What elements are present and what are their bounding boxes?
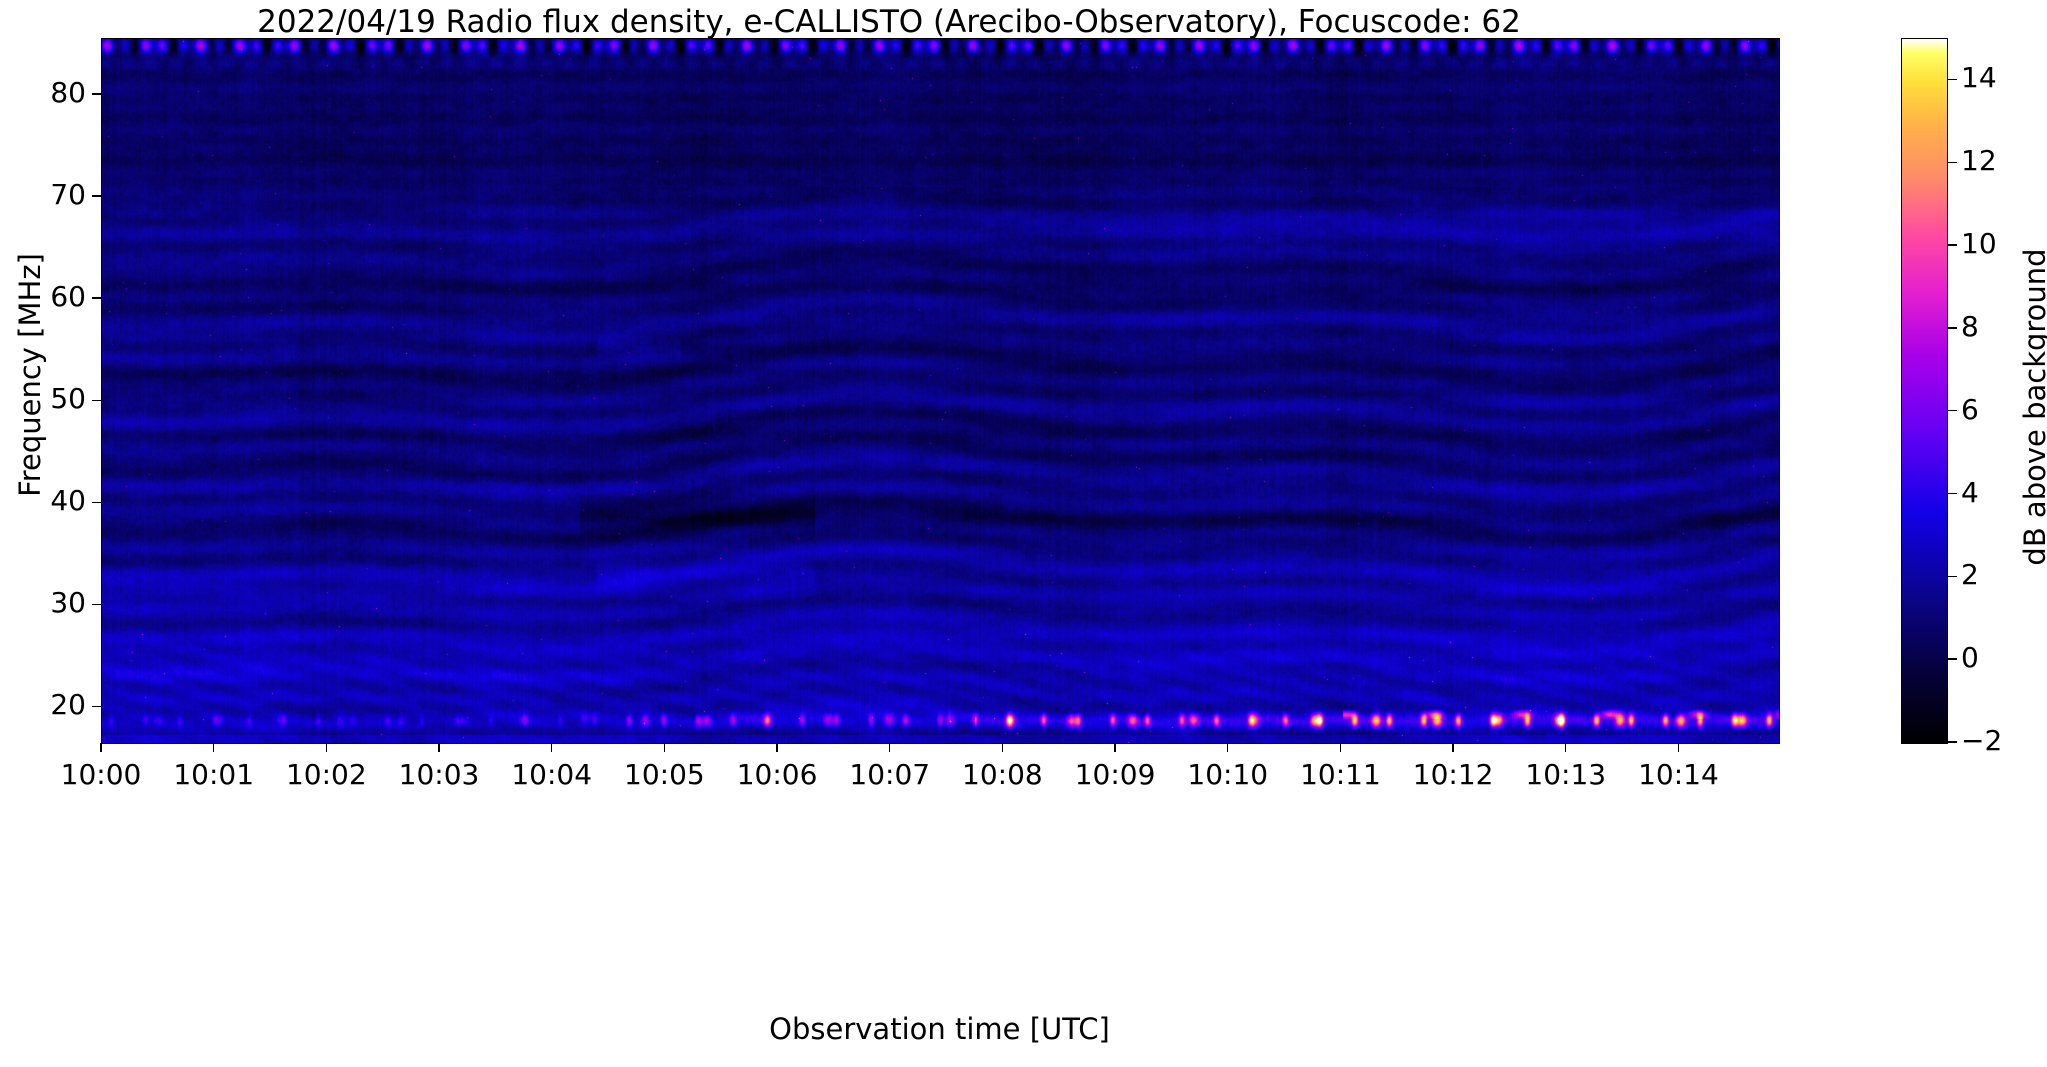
x-axis-label: Observation time [UTC]: [101, 1012, 1778, 1046]
y-tick-mark: [92, 195, 101, 196]
x-tick-mark: [889, 743, 890, 752]
y-tick-mark: [92, 297, 101, 298]
y-tick-mark: [92, 502, 101, 503]
colorbar-gradient: [1902, 39, 1947, 743]
colorbar-tick-mark: [1948, 576, 1957, 577]
colorbar-tick-mark: [1948, 162, 1957, 163]
page-title: 2022/04/19 Radio flux density, e-CALLIST…: [0, 4, 1778, 40]
y-tick-label: 80: [0, 76, 86, 109]
colorbar-tick-mark: [1948, 410, 1957, 411]
spectrogram-image: [102, 39, 1779, 743]
colorbar-tick-label: −2: [1961, 724, 2002, 757]
x-tick-mark: [1114, 743, 1115, 752]
x-tick-mark: [1565, 743, 1566, 752]
y-tick-label: 20: [0, 688, 86, 721]
colorbar-tick-label: 10: [1961, 227, 1997, 260]
x-tick-mark: [213, 743, 214, 752]
colorbar-tick-mark: [1948, 741, 1957, 742]
y-tick-mark: [92, 604, 101, 605]
spectrogram-figure: 2022/04/19 Radio flux density, e-CALLIST…: [0, 0, 2047, 1067]
x-tick-mark: [100, 743, 101, 752]
x-tick-mark: [1678, 743, 1679, 752]
y-tick-label: 70: [0, 178, 86, 211]
colorbar-tick-label: 8: [1961, 310, 1979, 343]
colorbar-tick-mark: [1948, 327, 1957, 328]
colorbar-tick-label: 4: [1961, 476, 1979, 509]
y-tick-mark: [92, 706, 101, 707]
y-tick-label: 30: [0, 586, 86, 619]
colorbar-tick-mark: [1948, 493, 1957, 494]
colorbar-tick-label: 0: [1961, 641, 1979, 674]
colorbar-tick-mark: [1948, 658, 1957, 659]
colorbar-label: dB above background: [2018, 87, 2047, 727]
x-tick-mark: [551, 743, 552, 752]
y-tick-mark: [92, 400, 101, 401]
y-tick-label: 50: [0, 382, 86, 415]
x-tick-mark: [1452, 743, 1453, 752]
x-tick-mark: [438, 743, 439, 752]
colorbar[interactable]: [1901, 38, 1948, 744]
spectrogram-plot-area[interactable]: [101, 38, 1780, 744]
colorbar-tick-label: 2: [1961, 558, 1979, 591]
colorbar-tick-label: 6: [1961, 393, 1979, 426]
x-tick-mark: [1340, 743, 1341, 752]
y-tick-label: 60: [0, 280, 86, 313]
x-tick-mark: [1002, 743, 1003, 752]
colorbar-tick-label: 14: [1961, 61, 1997, 94]
y-tick-label: 40: [0, 484, 86, 517]
colorbar-tick-mark: [1948, 79, 1957, 80]
x-tick-mark: [664, 743, 665, 752]
x-tick-label: 10:14: [1598, 758, 1758, 791]
x-tick-mark: [1227, 743, 1228, 752]
colorbar-tick-mark: [1948, 244, 1957, 245]
colorbar-tick-label: 12: [1961, 144, 1997, 177]
x-tick-mark: [326, 743, 327, 752]
x-tick-mark: [776, 743, 777, 752]
y-tick-mark: [92, 93, 101, 94]
